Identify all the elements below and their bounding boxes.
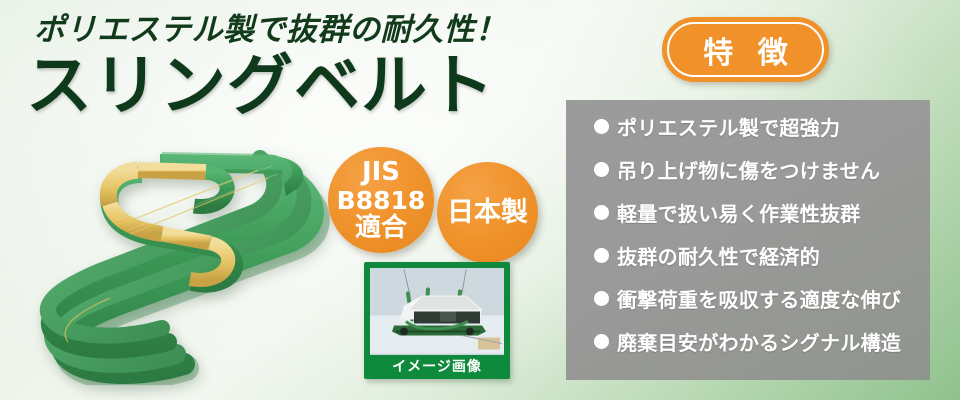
feature-item-6-label: 廃棄目安がわかるシグナル構造 [617, 327, 901, 356]
feature-item-1: ポリエステル製で超強力 [594, 112, 924, 141]
page-title: スリングベルト [26, 50, 586, 121]
banner-headline: ポリエステル製で抜群の耐久性！ [34, 13, 564, 49]
features-heading-label: 特 徴 [667, 22, 824, 77]
feature-item-3-label: 軽量で扱い易く作業性抜群 [617, 198, 861, 227]
bullet-dot-icon [594, 119, 609, 134]
bullet-dot-icon [594, 162, 609, 177]
feature-item-2: 吊り上げ物に傷をつけません [594, 155, 924, 184]
feature-item-1-label: ポリエステル製で超強力 [617, 112, 840, 141]
bullet-dot-icon [594, 205, 609, 220]
feature-item-5-label: 衝撃荷重を吸収する適度な伸び [617, 284, 901, 313]
feature-item-5: 衝撃荷重を吸収する適度な伸び [594, 284, 924, 313]
bullet-dot-icon [594, 334, 609, 349]
badge-jis-line2: B8818 [337, 187, 426, 214]
badge-jis-line3: 適合 [337, 214, 426, 242]
features-list: ポリエステル製で超強力 吊り上げ物に傷をつけません 軽量で扱い易く作業性抜群 抜… [594, 112, 924, 370]
feature-item-2-label: 吊り上げ物に傷をつけません [617, 155, 880, 184]
image-thumbnail: イメージ画像 [364, 262, 510, 379]
thumbnail-photo [370, 268, 504, 355]
thumbnail-caption: イメージ画像 [370, 355, 504, 379]
product-image-sling-belt [10, 130, 355, 385]
bullet-dot-icon [594, 291, 609, 306]
features-heading-pill: 特 徴 [662, 17, 829, 82]
badge-jis-line1: JIS [337, 158, 426, 186]
bullet-dot-icon [594, 248, 609, 263]
feature-item-4: 抜群の耐久性で経済的 [594, 241, 924, 270]
badge-made-in-japan-label: 日本製 [447, 198, 528, 227]
badge-made-in-japan: 日本製 [437, 162, 538, 263]
feature-item-4-label: 抜群の耐久性で経済的 [617, 241, 820, 270]
product-banner: ポリエステル製で抜群の耐久性！ スリングベルト [0, 0, 960, 400]
feature-item-3: 軽量で扱い易く作業性抜群 [594, 198, 924, 227]
feature-item-6: 廃棄目安がわかるシグナル構造 [594, 327, 924, 356]
badge-jis-compliance: JIS B8818 適合 [328, 147, 434, 253]
